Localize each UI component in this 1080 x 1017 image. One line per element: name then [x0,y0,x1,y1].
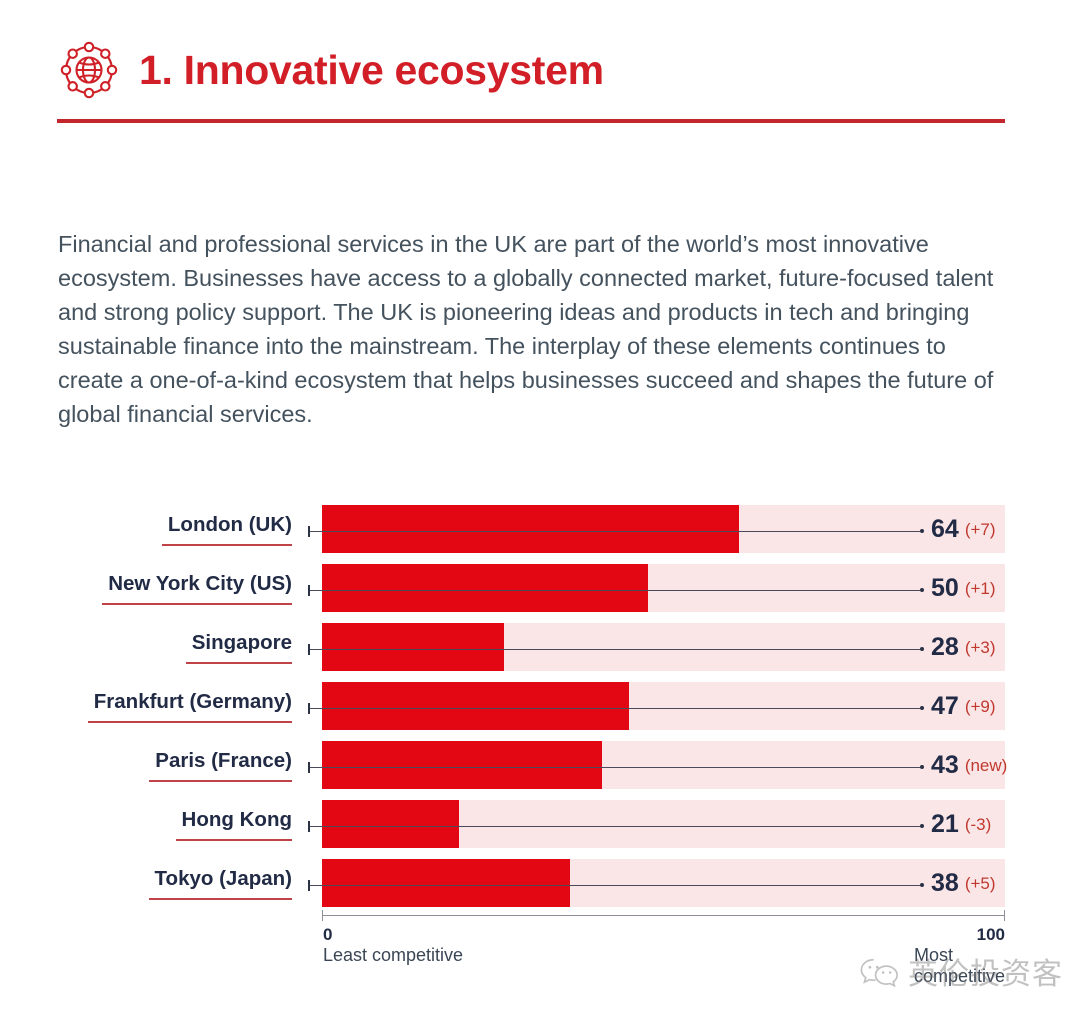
value-delta: (+7) [965,521,996,538]
value-delta: (+9) [965,698,996,715]
value-connector-line [310,590,920,591]
value-connector-dot [920,824,924,828]
value-number: 21 [931,812,959,837]
value-group: 21(-3) [931,800,991,848]
row-label-underline [186,662,292,664]
value-number: 47 [931,694,959,719]
value-connector-line [310,885,920,886]
chart-row: Singapore28(+3) [0,623,1080,671]
bar-fill[interactable] [322,623,504,671]
bar-fill[interactable] [322,859,570,907]
value-connector-dot [920,706,924,710]
title-divider [57,119,1005,123]
row-label: Paris (France) [155,749,292,773]
value-number: 38 [931,871,959,896]
row-label-underline [149,780,292,782]
row-label: London (UK) [168,513,292,537]
row-label-group: Frankfurt (Germany) [0,682,292,730]
value-number: 28 [931,635,959,660]
bar-fill[interactable] [322,682,629,730]
value-connector-dot [920,647,924,651]
value-delta: (+3) [965,639,996,656]
watermark-text: 英伦投资客 [908,960,1063,990]
axis-cap-right [1004,910,1005,921]
row-label: Singapore [192,631,292,655]
chart-row: Hong Kong21(-3) [0,800,1080,848]
value-connector-line [310,826,920,827]
row-label: New York City (US) [108,572,292,596]
intro-paragraph: Financial and professional services in t… [58,227,1003,431]
row-label: Hong Kong [182,808,292,832]
bar-track [322,800,1005,848]
page-header: 1. Innovative ecosystem [57,30,1005,110]
bar-fill[interactable] [322,564,648,612]
bar-track [322,741,1005,789]
bar-track [322,859,1005,907]
value-group: 43(new) [931,741,1007,789]
value-delta: (new) [965,757,1008,774]
wechat-icon [858,955,902,994]
row-label-group: Hong Kong [0,800,292,848]
axis-max-value: 100 [977,925,1005,945]
bar-track [322,623,1005,671]
value-group: 38(+5) [931,859,996,907]
row-label-group: New York City (US) [0,564,292,612]
row-label-group: Tokyo (Japan) [0,859,292,907]
bar-track [322,505,1005,553]
value-number: 50 [931,576,959,601]
chart-row: London (UK)64(+7) [0,505,1080,553]
value-connector-line [310,649,920,650]
row-label-underline [102,603,292,605]
competitiveness-bar-chart: London (UK)64(+7)New York City (US)50(+1… [0,495,1080,965]
watermark: 英伦投资客 [858,955,1063,994]
bar-track [322,682,1005,730]
value-group: 47(+9) [931,682,996,730]
row-label-group: London (UK) [0,505,292,553]
value-group: 50(+1) [931,564,996,612]
row-label-underline [149,898,292,900]
axis-min-caption: Least competitive [323,945,463,966]
chart-row: Paris (France)43(new) [0,741,1080,789]
value-connector-line [310,531,920,532]
row-label-group: Paris (France) [0,741,292,789]
row-label: Tokyo (Japan) [155,867,292,891]
value-delta: (+5) [965,875,996,892]
bar-track [322,564,1005,612]
value-connector-dot [920,765,924,769]
value-group: 28(+3) [931,623,996,671]
bar-fill[interactable] [322,800,459,848]
chart-axis-line [322,915,1005,916]
value-number: 43 [931,753,959,778]
value-group: 64(+7) [931,505,996,553]
bar-fill[interactable] [322,741,602,789]
value-connector-line [310,708,920,709]
value-delta: (-3) [965,816,991,833]
axis-min-value: 0 [323,925,332,945]
axis-cap-left [322,910,323,921]
chart-row: New York City (US)50(+1) [0,564,1080,612]
row-label: Frankfurt (Germany) [94,690,292,714]
bar-fill[interactable] [322,505,739,553]
value-number: 64 [931,517,959,542]
page-title: 1. Innovative ecosystem [139,50,604,91]
value-connector-dot [920,883,924,887]
row-label-underline [162,544,292,546]
chart-row: Tokyo (Japan)38(+5) [0,859,1080,907]
value-connector-dot [920,529,924,533]
value-connector-dot [920,588,924,592]
globe-network-icon [57,38,121,102]
row-label-group: Singapore [0,623,292,671]
value-delta: (+1) [965,580,996,597]
row-label-underline [88,721,292,723]
row-label-underline [176,839,292,841]
chart-row: Frankfurt (Germany)47(+9) [0,682,1080,730]
value-connector-line [310,767,920,768]
